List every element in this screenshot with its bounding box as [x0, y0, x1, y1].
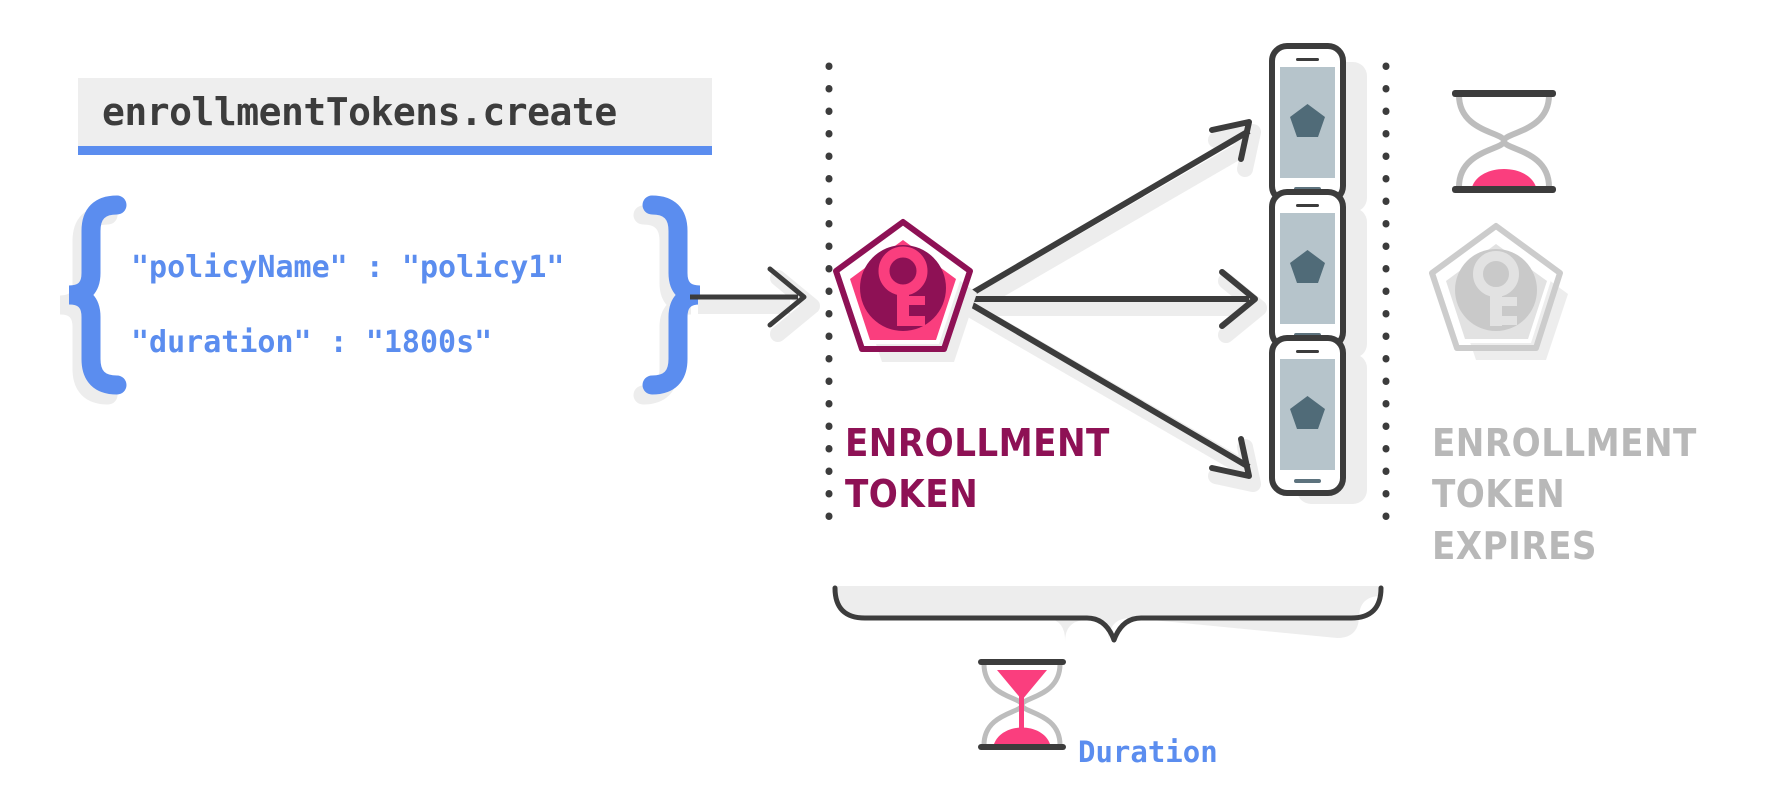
request-arrow — [690, 269, 812, 334]
expired-token-key-stem — [1490, 287, 1502, 326]
phone-with-pentagon-icon-1 — [1272, 46, 1367, 212]
distribution-arrows — [962, 122, 1259, 484]
distribution-arrow-up-shadow — [968, 143, 1253, 308]
key-pentagon-icon — [836, 222, 977, 362]
token-key-stem — [897, 285, 909, 326]
distribution-arrow-down — [962, 299, 1249, 467]
expired-token-key-tooth-upper — [1502, 297, 1517, 306]
hourglass-duration-cap-top — [978, 659, 1066, 665]
distribution-arrow-down-shadow — [968, 308, 1253, 473]
hourglass-duration-cap-bottom — [978, 744, 1066, 750]
expired-token-key-tooth-lower — [1502, 316, 1517, 325]
key-pentagon-expired-icon — [1432, 226, 1568, 360]
phone-3-home-bar — [1294, 479, 1321, 483]
hourglass-duration-sand-bottom — [994, 728, 1050, 745]
diagram-artwork — [0, 0, 1789, 795]
phone-with-pentagon-icon-2 — [1272, 192, 1367, 358]
diagram-canvas: enrollmentTokens.create "policyName" : "… — [0, 0, 1789, 795]
phone-1-speaker — [1296, 58, 1319, 61]
hourglass-start-sand-bottom — [1472, 169, 1536, 187]
phone-2-speaker — [1296, 204, 1319, 207]
duration-brace-fill — [835, 586, 1381, 642]
hourglass-icon-duration — [978, 659, 1066, 750]
phone-with-pentagon-icon-3 — [1272, 338, 1367, 504]
hourglass-start-cap-top — [1452, 90, 1556, 97]
phone-3-speaker — [1296, 350, 1319, 353]
distribution-arrow-up — [962, 131, 1249, 299]
duration-brace — [835, 586, 1381, 642]
hourglass-icon-start — [1452, 90, 1556, 193]
token-key-tooth-upper — [909, 296, 925, 305]
token-key-tooth-lower — [909, 316, 925, 326]
hourglass-start-cap-bottom — [1452, 186, 1556, 193]
